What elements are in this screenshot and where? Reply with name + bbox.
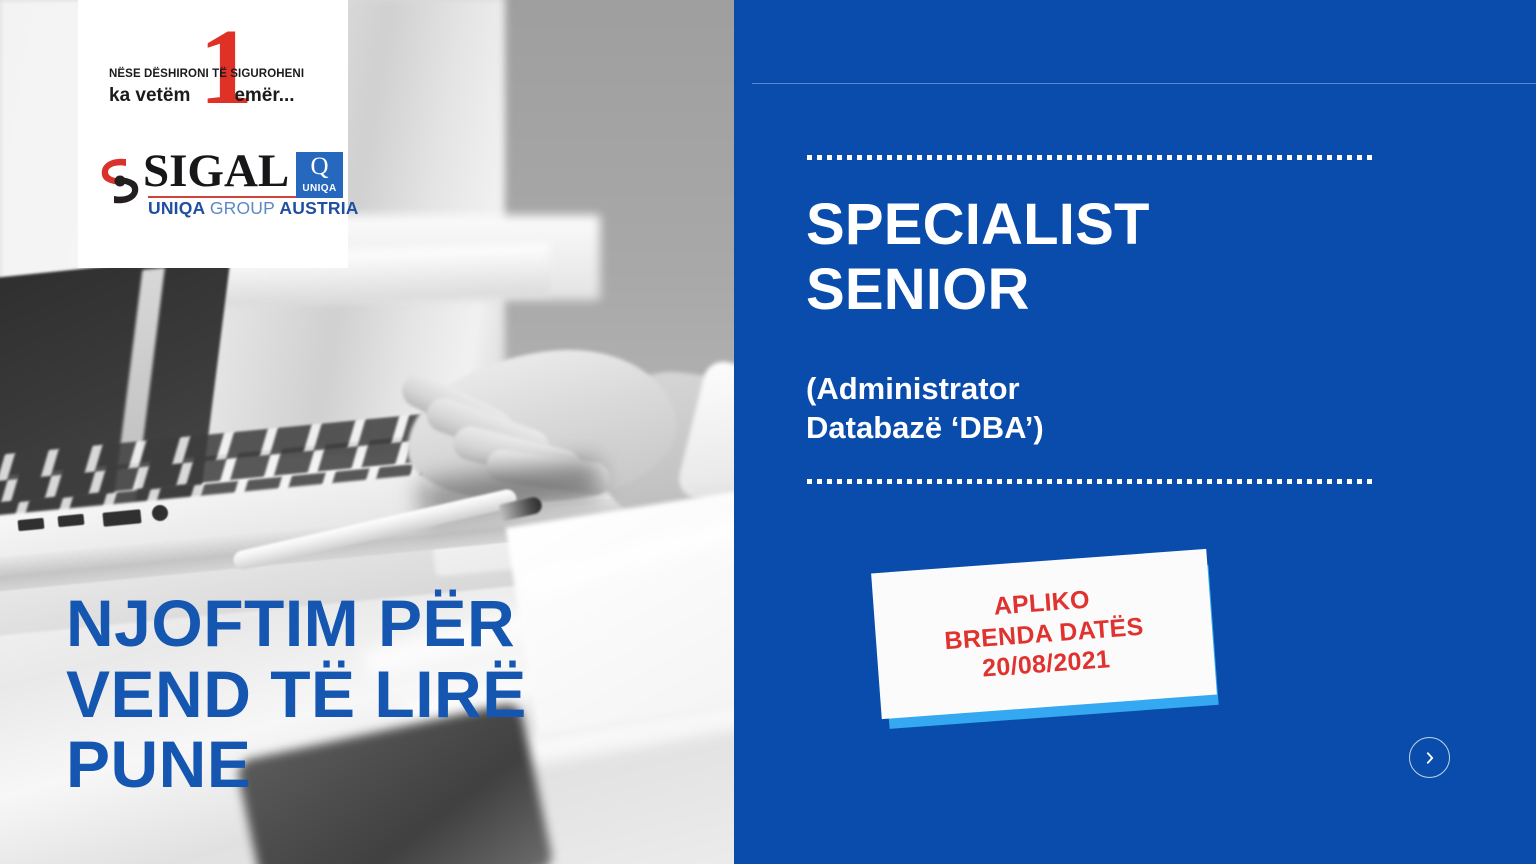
uniqa-group-line: UNIQA GROUP AUSTRIA	[148, 198, 359, 219]
application-deadline-card: APLIKO BRENDA DATËS 20/08/2021	[864, 545, 1244, 745]
panel-top-divider	[752, 83, 1536, 84]
vacancy-headline-line-2: VEND TË LIRË	[66, 659, 706, 730]
logo-tagline-after: emër...	[234, 85, 294, 106]
uniqa-badge: Q UNIQA	[296, 152, 343, 198]
job-subtitle: (Administrator Databazë ‘DBA’)	[806, 370, 1044, 448]
job-title-line-2: SENIOR	[806, 258, 1150, 323]
next-slide-button[interactable]	[1409, 737, 1450, 778]
logo-tagline-bottom: ka vetëmemër...	[109, 85, 295, 107]
job-vacancy-poster: 1 NËSE DËSHIRONI TË SIGUROHENI ka vetëme…	[0, 0, 1536, 864]
sigal-logo-card: 1 NËSE DËSHIRONI TË SIGUROHENI ka vetëme…	[78, 0, 348, 268]
vacancy-headline: NJOFTIM PËR VEND TË LIRË PUNE	[66, 588, 706, 800]
uniqa-q-icon: Q	[296, 154, 343, 179]
uniqa-group-part2: GROUP	[210, 198, 275, 218]
logo-tagline-before: ka vetëm	[109, 85, 190, 106]
uniqa-group-part3: AUSTRIA	[279, 198, 358, 218]
sigal-s-swirl-icon	[96, 154, 144, 208]
job-subtitle-line-1: (Administrator	[806, 370, 1044, 409]
uniqa-group-part1: UNIQA	[148, 198, 205, 218]
deadline-card-surface: APLIKO BRENDA DATËS 20/08/2021	[871, 549, 1217, 719]
sigal-wordmark-row: SIGAL Q UNIQA UNIQA GROUP AUSTRIA	[96, 152, 336, 214]
logo-tagline: 1 NËSE DËSHIRONI TË SIGUROHENI ka vetëme…	[78, 30, 348, 122]
vacancy-headline-line-3: PUNE	[66, 729, 706, 800]
logo-tagline-top: NËSE DËSHIRONI TË SIGUROHENI	[109, 68, 304, 80]
dotted-divider-bottom	[807, 479, 1374, 484]
chevron-right-icon	[1423, 751, 1437, 765]
sigal-brand-name: SIGAL	[143, 148, 289, 195]
job-details-panel: SPECIALIST SENIOR (Administrator Databaz…	[734, 0, 1536, 864]
dotted-divider-top	[807, 155, 1374, 160]
job-subtitle-line-2: Databazë ‘DBA’)	[806, 409, 1044, 448]
uniqa-badge-label: UNIQA	[296, 183, 343, 194]
deadline-text: APLIKO BRENDA DATËS 20/08/2021	[941, 581, 1147, 687]
vacancy-headline-line-1: NJOFTIM PËR	[66, 588, 706, 659]
job-title: SPECIALIST SENIOR	[806, 193, 1150, 323]
job-title-line-1: SPECIALIST	[806, 193, 1150, 258]
